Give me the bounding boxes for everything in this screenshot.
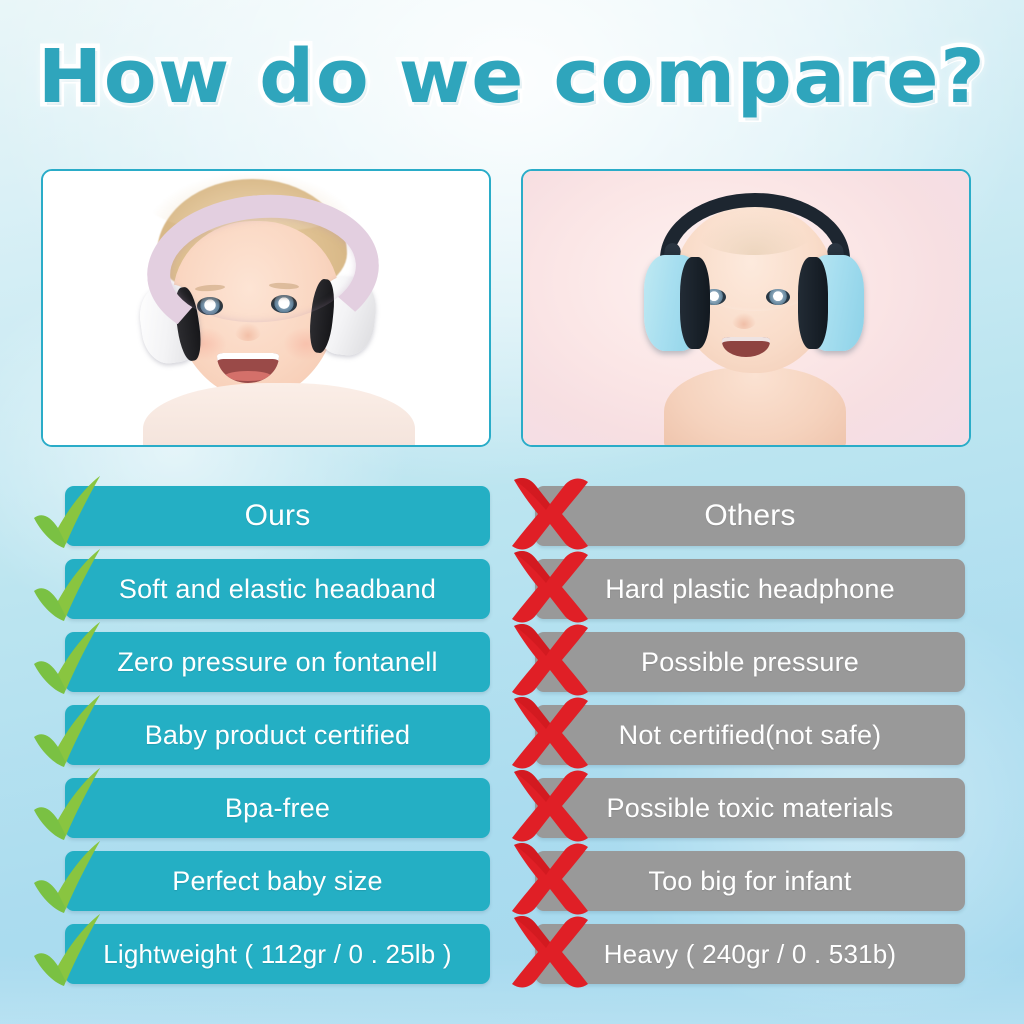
feature-label-ours: Soft and elastic headband [119, 576, 436, 603]
feature-label-others: Too big for infant [648, 868, 851, 895]
pill-ours-feature: Soft and elastic headband [65, 559, 490, 619]
pill-others-header: Others [535, 486, 965, 546]
feature-label-ours: Perfect baby size [172, 868, 383, 895]
pill-ours-feature: Zero pressure on fontanell [65, 632, 490, 692]
pill-others-feature: Heavy ( 240gr / 0 . 531b) [535, 924, 965, 984]
comparison-row: Zero pressure on fontanell Possible pres… [0, 632, 1024, 692]
feature-label-ours: Bpa-free [225, 795, 330, 822]
feature-label-others: Not certified(not safe) [619, 722, 882, 749]
comparison-rows: Ours Others Soft and elastic headband [0, 486, 1024, 984]
photo-ours-image [43, 171, 489, 445]
column-header-others: Others [704, 501, 795, 531]
baby-hard-earmuffs-illustration [618, 185, 888, 447]
pill-others-feature: Too big for infant [535, 851, 965, 911]
pill-ours-feature: Perfect baby size [65, 851, 490, 911]
pill-ours-header: Ours [65, 486, 490, 546]
page-title-container: How do we compare? [0, 34, 1024, 120]
pill-others-feature: Hard plastic headphone [535, 559, 965, 619]
feature-label-others: Heavy ( 240gr / 0 . 531b) [604, 941, 897, 967]
photo-panel-ours [41, 169, 491, 447]
pill-others-feature: Possible toxic materials [535, 778, 965, 838]
photo-others-image [523, 171, 969, 445]
comparison-row: Baby product certified Not certified(not… [0, 705, 1024, 765]
comparison-infographic: How do we compare? [0, 0, 1024, 1024]
baby-soft-headband-illustration [121, 177, 421, 447]
feature-label-ours: Lightweight ( 112gr / 0 . 25lb ) [103, 941, 451, 967]
comparison-row: Lightweight ( 112gr / 0 . 25lb ) Heavy (… [0, 924, 1024, 984]
pill-others-feature: Possible pressure [535, 632, 965, 692]
feature-label-others: Possible toxic materials [607, 795, 894, 822]
pill-ours-feature: Lightweight ( 112gr / 0 . 25lb ) [65, 924, 490, 984]
page-title: How do we compare? [38, 34, 987, 120]
comparison-row: Perfect baby size Too big for infant [0, 851, 1024, 911]
column-header-ours: Ours [245, 501, 311, 531]
comparison-row: Bpa-free Possible toxic materials [0, 778, 1024, 838]
feature-label-others: Possible pressure [641, 649, 859, 676]
comparison-row: Soft and elastic headband Hard plastic h… [0, 559, 1024, 619]
feature-label-ours: Zero pressure on fontanell [117, 649, 437, 676]
feature-label-ours: Baby product certified [145, 722, 411, 749]
pill-others-feature: Not certified(not safe) [535, 705, 965, 765]
pill-ours-feature: Bpa-free [65, 778, 490, 838]
comparison-header-row: Ours Others [0, 486, 1024, 546]
pill-ours-feature: Baby product certified [65, 705, 490, 765]
feature-label-others: Hard plastic headphone [605, 576, 895, 603]
photo-panel-others [521, 169, 971, 447]
